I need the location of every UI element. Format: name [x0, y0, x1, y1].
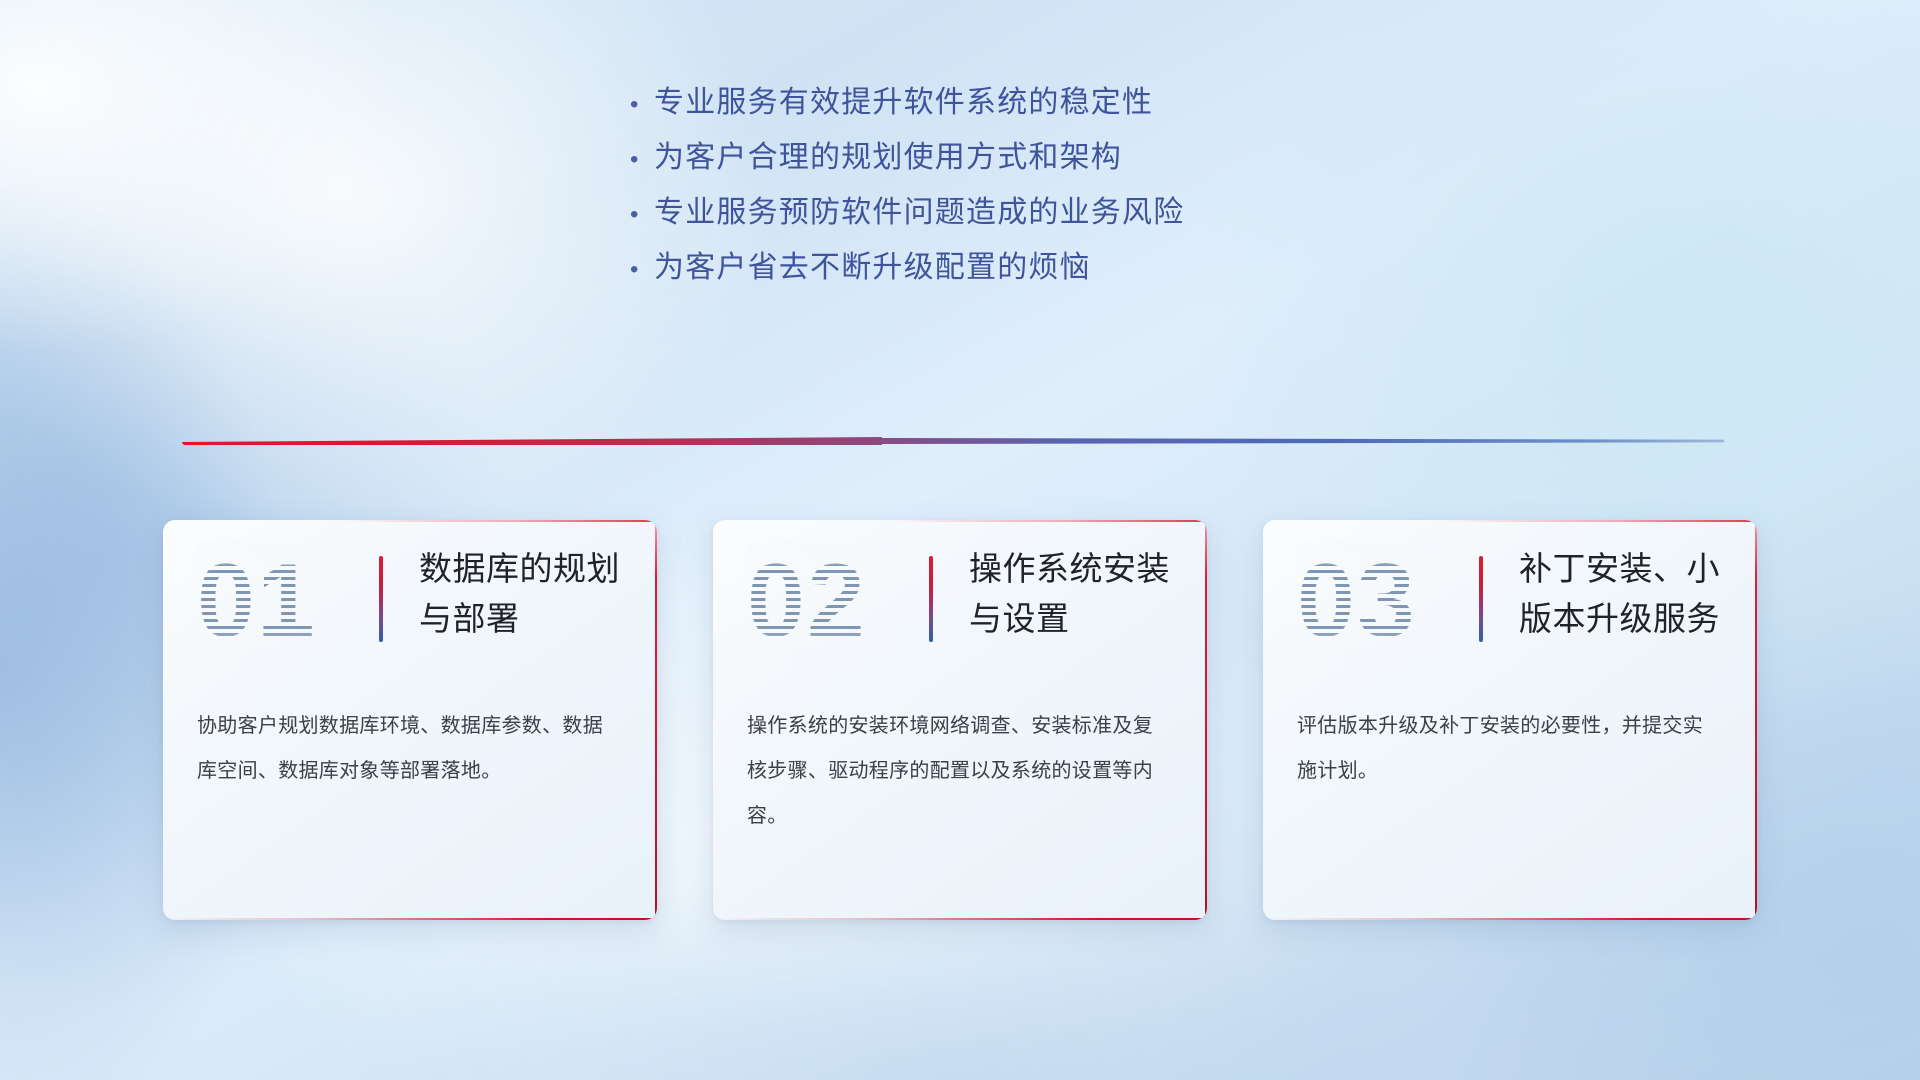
card-number-watermark: 03 — [1297, 542, 1447, 660]
service-card-02[interactable]: 02 操作系统安装与设置 操作系统的安装环境网络调查、安装标准及复核步骤、驱动程… — [713, 520, 1207, 920]
list-item: • 专业服务预防软件问题造成的业务风险 — [620, 198, 1300, 228]
bullet-text: 专业服务有效提升软件系统的稳定性 — [654, 88, 1153, 118]
service-card-03[interactable]: 03 补丁安装、小版本升级服务 评估版本升级及补丁安装的必要性，并提交实施计划。 — [1263, 520, 1757, 920]
list-item: • 专业服务有效提升软件系统的稳定性 — [620, 88, 1300, 118]
list-item: • 为客户省去不断升级配置的烦恼 — [620, 253, 1300, 283]
card-number-watermark: 02 — [747, 542, 897, 660]
bullet-marker-icon: • — [620, 148, 654, 172]
card-bottom-accent — [713, 918, 1207, 920]
bullet-marker-icon: • — [620, 93, 654, 117]
bullet-text: 专业服务预防软件问题造成的业务风险 — [654, 198, 1184, 228]
card-bottom-accent — [1263, 918, 1757, 920]
card-header: 01 数据库的规划与部署 — [163, 520, 657, 692]
bullet-text: 为客户省去不断升级配置的烦恼 — [654, 253, 1091, 283]
card-body-text: 操作系统的安装环境网络调查、安装标准及复核步骤、驱动程序的配置以及系统的设置等内… — [747, 704, 1173, 839]
card-title: 数据库的规划与部署 — [419, 544, 635, 644]
card-title-accent-bar — [1479, 556, 1483, 642]
card-body-text: 评估版本升级及补丁安装的必要性，并提交实施计划。 — [1297, 704, 1723, 794]
card-number-watermark: 01 — [197, 542, 347, 660]
card-bottom-accent — [163, 918, 657, 920]
card-title: 补丁安装、小版本升级服务 — [1519, 544, 1735, 644]
divider-accent-blue — [872, 438, 1724, 444]
card-title: 操作系统安装与设置 — [969, 544, 1185, 644]
benefits-bullet-list: • 专业服务有效提升软件系统的稳定性 • 为客户合理的规划使用方式和架构 • 专… — [0, 88, 1920, 308]
divider-accent-red — [182, 437, 882, 445]
list-item: • 为客户合理的规划使用方式和架构 — [620, 143, 1300, 173]
card-header: 02 操作系统安装与设置 — [713, 520, 1207, 692]
bullet-marker-icon: • — [620, 203, 654, 227]
service-card-01[interactable]: 01 数据库的规划与部署 协助客户规划数据库环境、数据库参数、数据库空间、数据库… — [163, 520, 657, 920]
service-card-group: 01 数据库的规划与部署 协助客户规划数据库环境、数据库参数、数据库空间、数据库… — [0, 520, 1920, 920]
card-header: 03 补丁安装、小版本升级服务 — [1263, 520, 1757, 692]
card-title-accent-bar — [379, 556, 383, 642]
card-body-text: 协助客户规划数据库环境、数据库参数、数据库空间、数据库对象等部署落地。 — [197, 704, 623, 794]
bullet-text: 为客户合理的规划使用方式和架构 — [654, 143, 1122, 173]
card-title-accent-bar — [929, 556, 933, 642]
bullet-marker-icon: • — [620, 258, 654, 282]
section-divider — [182, 434, 1724, 448]
